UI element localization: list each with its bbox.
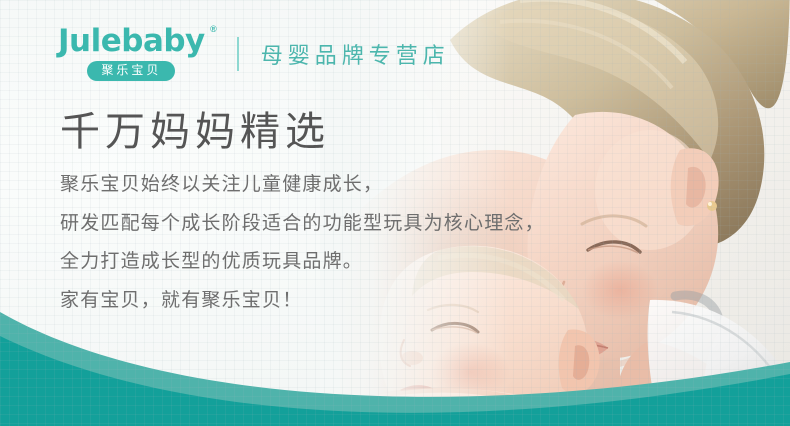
body-copy: 聚乐宝贝始终以关注儿童健康成长， 研发匹配每个成长阶段适合的功能型玩具为核心理念… [60, 172, 545, 314]
header-divider [237, 37, 239, 71]
body-line: 研发匹配每个成长阶段适合的功能型玩具为核心理念， [60, 211, 545, 237]
brand-header: Julebaby ® 聚乐宝贝 母婴品牌专营店 [58, 26, 450, 81]
body-line: 家有宝贝，就有聚乐宝贝！ [60, 288, 545, 314]
brand-logo[interactable]: Julebaby ® 聚乐宝贝 [58, 26, 205, 81]
promo-banner: Julebaby ® 聚乐宝贝 母婴品牌专营店 千万妈妈精选 聚乐宝贝始终以关注… [0, 0, 790, 426]
page-title: 千万妈妈精选 [60, 99, 330, 157]
logo-subtext-pill: 聚乐宝贝 [87, 61, 175, 81]
bottom-wave-decoration [0, 296, 790, 426]
body-line: 全力打造成长型的优质玩具品牌。 [60, 249, 545, 275]
registered-trademark-icon: ® [210, 25, 217, 34]
store-name: 母婴品牌专营店 [261, 38, 450, 70]
logo-wordmark: Julebaby [58, 26, 205, 57]
body-line: 聚乐宝贝始终以关注儿童健康成长， [60, 172, 545, 198]
